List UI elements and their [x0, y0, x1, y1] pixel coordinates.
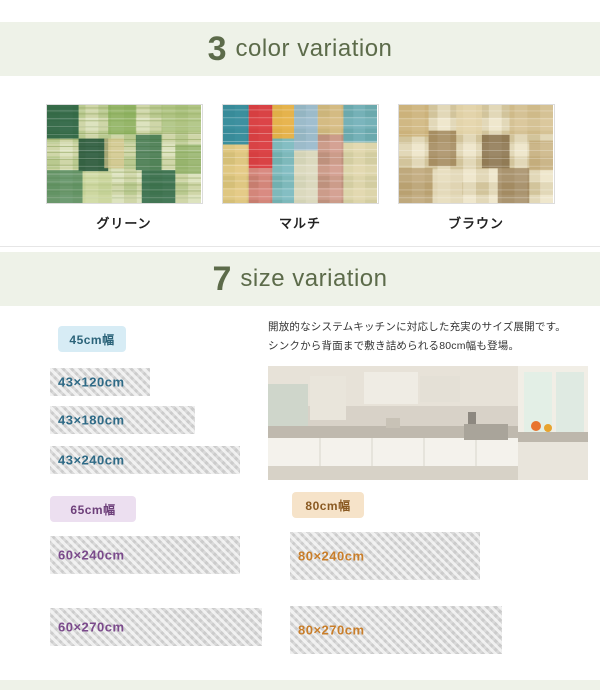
- color-swatch-multi[interactable]: マルチ: [222, 104, 379, 232]
- footer-bar: [0, 680, 600, 690]
- mat-43x240[interactable]: 43×240cm: [50, 446, 240, 474]
- color-variation-number: 3: [208, 32, 227, 66]
- green-caption: グリーン: [46, 213, 203, 232]
- width-pill-65: 65cm幅: [50, 496, 136, 522]
- color-variation-title: color variation: [236, 37, 393, 61]
- mat-label-43x180: 43×180cm: [58, 413, 125, 428]
- multi-mat-image: [222, 104, 379, 204]
- green-weave-pattern: [47, 105, 202, 204]
- color-swatch-green[interactable]: グリーン: [46, 104, 203, 232]
- width-pill-45: 45cm幅: [58, 326, 126, 352]
- mat-label-60x270: 60×270cm: [58, 620, 125, 635]
- kitchen-photo-illustration: [268, 366, 588, 480]
- brown-weave-pattern: [399, 105, 554, 204]
- multi-weave-pattern: [223, 105, 378, 204]
- color-swatch-list: グリーン: [0, 104, 600, 232]
- size-lead-text: 開放的なシステムキッチンに対応した充実のサイズ展開です。 シンクから背面まで敷き…: [268, 318, 588, 357]
- section-divider: [0, 246, 600, 247]
- product-size-color-page: 3 color variation: [0, 0, 600, 690]
- width-pill-80: 80cm幅: [292, 492, 364, 518]
- mat-43x120[interactable]: 43×120cm: [50, 368, 150, 396]
- brown-caption: ブラウン: [398, 213, 555, 232]
- mat-43x180[interactable]: 43×180cm: [50, 406, 195, 434]
- lead-line-1: 開放的なシステムキッチンに対応した充実のサイズ展開です。: [268, 318, 588, 337]
- color-variation-banner: 3 color variation: [0, 22, 600, 76]
- kitchen-photo: [268, 366, 588, 480]
- multi-caption: マルチ: [222, 213, 379, 232]
- brown-mat-image: [398, 104, 555, 204]
- mat-60x270[interactable]: 60×270cm: [50, 608, 262, 646]
- green-mat-image: [46, 104, 203, 204]
- size-variation-number: 7: [213, 262, 232, 296]
- size-variation-banner: 7 size variation: [0, 252, 600, 306]
- mat-80x270[interactable]: 80×270cm: [290, 606, 502, 654]
- mat-60x240[interactable]: 60×240cm: [50, 536, 240, 574]
- mat-label-80x240: 80×240cm: [298, 549, 365, 564]
- lead-line-2: シンクから背面まで敷き詰められる80cm幅も登場。: [268, 337, 588, 356]
- color-swatch-brown[interactable]: ブラウン: [398, 104, 555, 232]
- mat-label-80x270: 80×270cm: [298, 623, 365, 638]
- size-variation-title: size variation: [240, 267, 387, 291]
- mat-80x240[interactable]: 80×240cm: [290, 532, 480, 580]
- mat-label-60x240: 60×240cm: [58, 548, 125, 563]
- mat-label-43x240: 43×240cm: [58, 453, 125, 468]
- mat-label-43x120: 43×120cm: [58, 375, 125, 390]
